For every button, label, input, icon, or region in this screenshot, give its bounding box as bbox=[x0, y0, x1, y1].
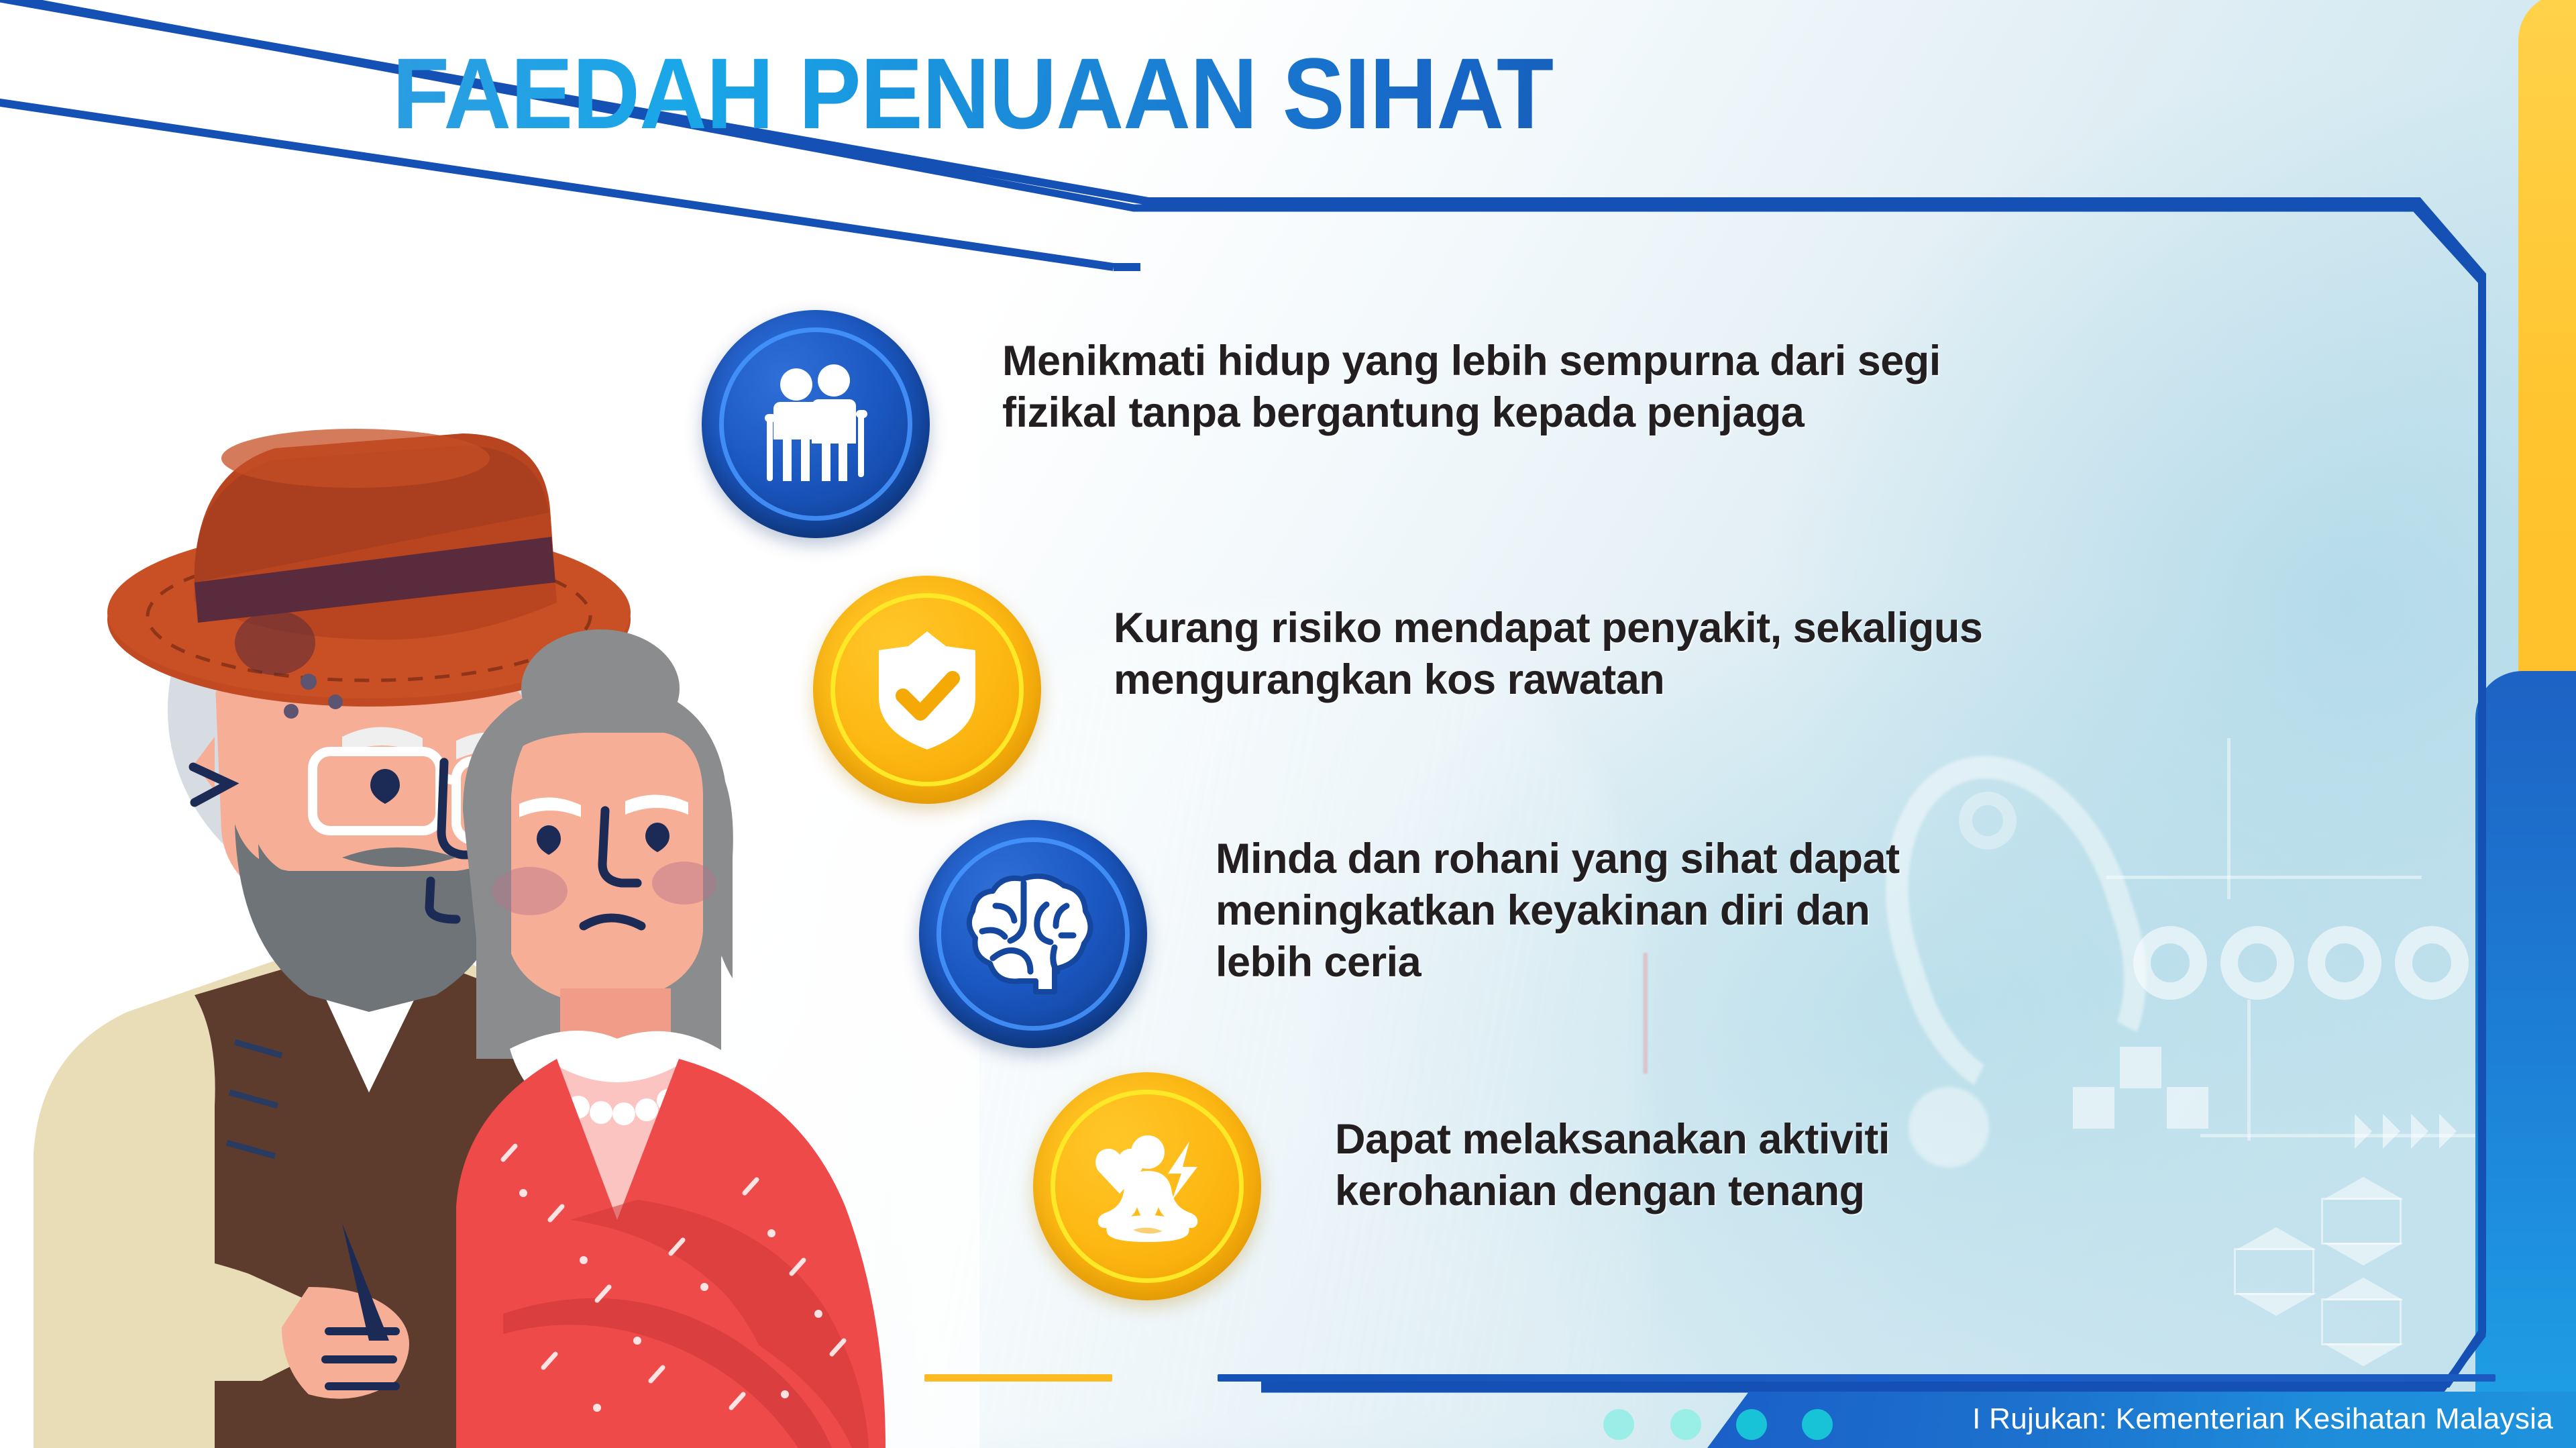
footer-dot bbox=[1802, 1409, 1833, 1440]
benefit-line: fizikal tanpa bergantung kepada penjaga bbox=[1002, 387, 1941, 439]
benefit-line: Menikmati hidup yang lebih sempurna dari… bbox=[1002, 335, 1941, 387]
blue-divider-rule bbox=[1218, 1374, 2495, 1382]
footer-reference-text: I Rujukan: Kementerian Kesihatan Malaysi… bbox=[1972, 1402, 2553, 1436]
benefit-text-2: Kurang risiko mendapat penyakit, sekalig… bbox=[1114, 603, 1982, 706]
benefit-item-3[interactable]: Minda dan rohani yang sihat dapat mening… bbox=[919, 820, 1900, 1048]
meditation-icon bbox=[1033, 1072, 1261, 1300]
footer-dot bbox=[1670, 1409, 1701, 1440]
benefit-item-1[interactable]: Menikmati hidup yang lebih sempurna dari… bbox=[702, 310, 1941, 538]
benefit-item-2[interactable]: Kurang risiko mendapat penyakit, sekalig… bbox=[813, 576, 1982, 804]
infographic-poster: FAEDAH PENUAAN SIHAT Menikmati hidup yan… bbox=[0, 0, 2576, 1448]
benefit-item-4[interactable]: Dapat melaksanakan aktiviti kerohanian d… bbox=[1033, 1072, 1890, 1300]
benefit-line: mengurangkan kos rawatan bbox=[1114, 654, 1982, 706]
benefit-line: meningkatkan keyakinan diri dan bbox=[1216, 885, 1900, 937]
footer-dot bbox=[1736, 1409, 1767, 1440]
benefit-line: Minda dan rohani yang sihat dapat bbox=[1216, 833, 1900, 885]
footer-dot bbox=[1603, 1409, 1634, 1440]
benefit-text-4: Dapat melaksanakan aktiviti kerohanian d… bbox=[1335, 1114, 1890, 1217]
gold-divider-rule bbox=[924, 1374, 1112, 1382]
elderly-couple-icon bbox=[702, 310, 930, 538]
benefit-line: Kurang risiko mendapat penyakit, sekalig… bbox=[1114, 603, 1982, 654]
page-title: FAEDAH PENUAAN SIHAT bbox=[68, 43, 1878, 144]
benefit-text-3: Minda dan rohani yang sihat dapat mening… bbox=[1216, 833, 1900, 988]
benefit-line: Dapat melaksanakan aktiviti bbox=[1335, 1114, 1890, 1166]
benefit-line: lebih ceria bbox=[1216, 937, 1900, 988]
benefit-text-1: Menikmati hidup yang lebih sempurna dari… bbox=[1002, 335, 1941, 439]
brain-icon bbox=[919, 820, 1147, 1048]
shield-check-icon bbox=[813, 576, 1041, 804]
benefit-line: kerohanian dengan tenang bbox=[1335, 1166, 1890, 1217]
